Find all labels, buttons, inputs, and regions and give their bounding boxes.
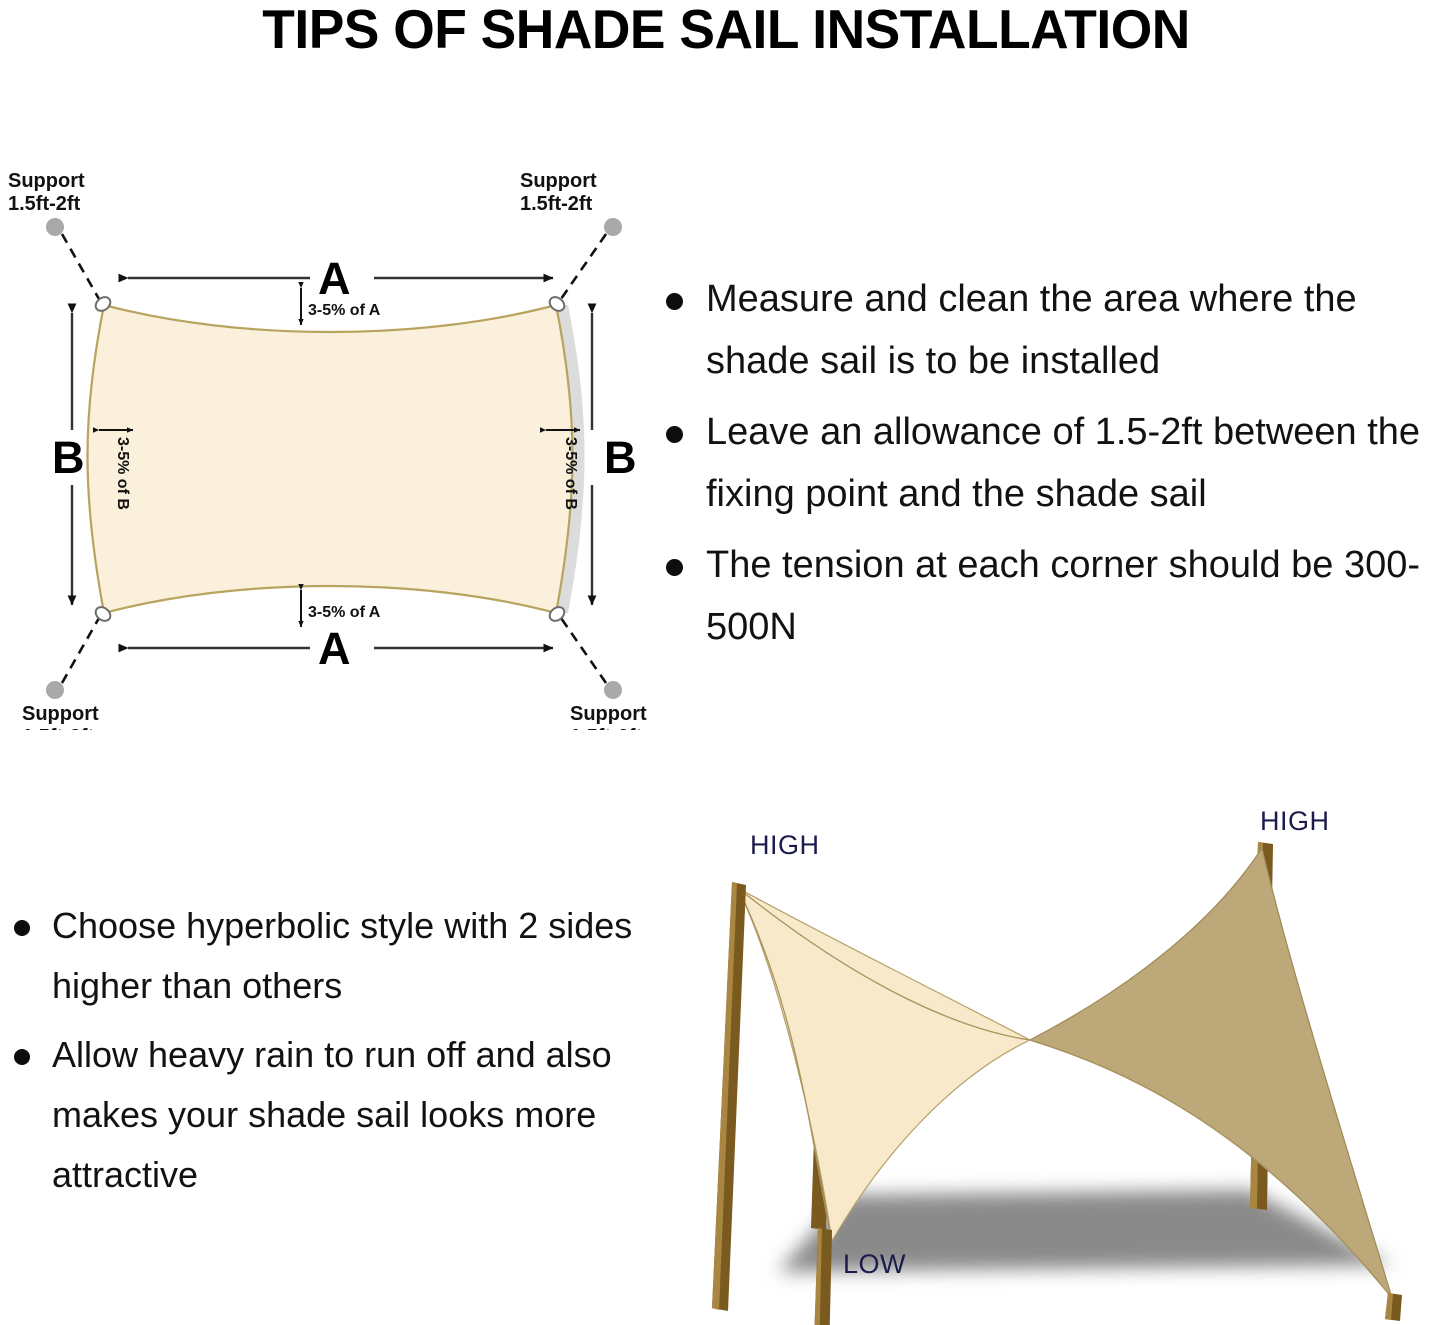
label-low-left: LOW — [843, 1249, 906, 1279]
support-label-line1: Support — [22, 703, 99, 725]
label-high-right: HIGH — [1260, 806, 1330, 836]
installation-tips-panel: Measure and clean the area where the sha… — [648, 268, 1452, 667]
support-bottom-right: Support 1.5ft-2ft — [547, 604, 647, 730]
dimension-label-a-bottom: A — [318, 623, 351, 674]
curve-tolerance-label-right: 3-5% of B — [562, 437, 579, 510]
dimension-b-left: B — [52, 313, 85, 605]
dimension-a-bottom: A — [128, 623, 553, 674]
list-item: Allow heavy rain to run off and also mak… — [0, 1025, 640, 1205]
support-bottom-left: Support 1.5ft-2ft — [22, 604, 113, 730]
dimension-label-a-top: A — [318, 253, 351, 304]
dimension-a-top: A — [128, 253, 553, 304]
page-title: TIPS OF SHADE SAIL INSTALLATION — [22, 0, 1430, 62]
support-label-line1: Support — [570, 703, 647, 725]
dimension-b-right: B — [592, 313, 637, 605]
list-item: Measure and clean the area where the sha… — [648, 268, 1452, 392]
support-label-line2: 1.5ft-2ft — [22, 726, 95, 730]
installation-tips-list: Measure and clean the area where the sha… — [648, 268, 1452, 658]
support-label-line2: 1.5ft-2ft — [8, 193, 81, 215]
support-label-line2: 1.5ft-2ft — [570, 726, 643, 730]
dimension-label-b-right: B — [604, 432, 637, 483]
post-high-left — [712, 882, 746, 1311]
hyperbolic-sail-illustration: HIGH HIGH LOW LOW — [650, 778, 1450, 1325]
label-high-left: HIGH — [750, 830, 820, 860]
curve-tolerance-bottom: 3-5% of A — [301, 590, 381, 627]
list-item: Leave an allowance of 1.5-2ft between th… — [648, 401, 1452, 525]
curve-tolerance-label-bottom: 3-5% of A — [308, 604, 381, 621]
list-item: The tension at each corner should be 300… — [648, 534, 1452, 658]
post-low-right — [1385, 1293, 1402, 1321]
shade-sail-shape — [88, 305, 573, 613]
list-item: Choose hyperbolic style with 2 sides hig… — [0, 896, 640, 1016]
hyperbolic-tips-panel: Choose hyperbolic style with 2 sides hig… — [0, 896, 640, 1214]
curve-tolerance-label-left: 3-5% of B — [114, 437, 131, 510]
sail-surface-front — [738, 888, 1030, 1241]
curve-tolerance-label-top: 3-5% of A — [308, 302, 381, 319]
support-label-line1: Support — [520, 170, 597, 192]
support-top-left: Support 1.5ft-2ft — [8, 170, 113, 314]
support-label-line2: 1.5ft-2ft — [520, 193, 593, 215]
dimension-label-b-left: B — [52, 432, 85, 483]
support-top-right: Support 1.5ft-2ft — [520, 170, 622, 314]
hyperbolic-style-tips-list: Choose hyperbolic style with 2 sides hig… — [0, 896, 640, 1205]
rect-sail-diagram: Support 1.5ft-2ft Support 1.5ft-2ft Supp… — [0, 165, 660, 730]
support-label-line1: Support — [8, 170, 85, 192]
